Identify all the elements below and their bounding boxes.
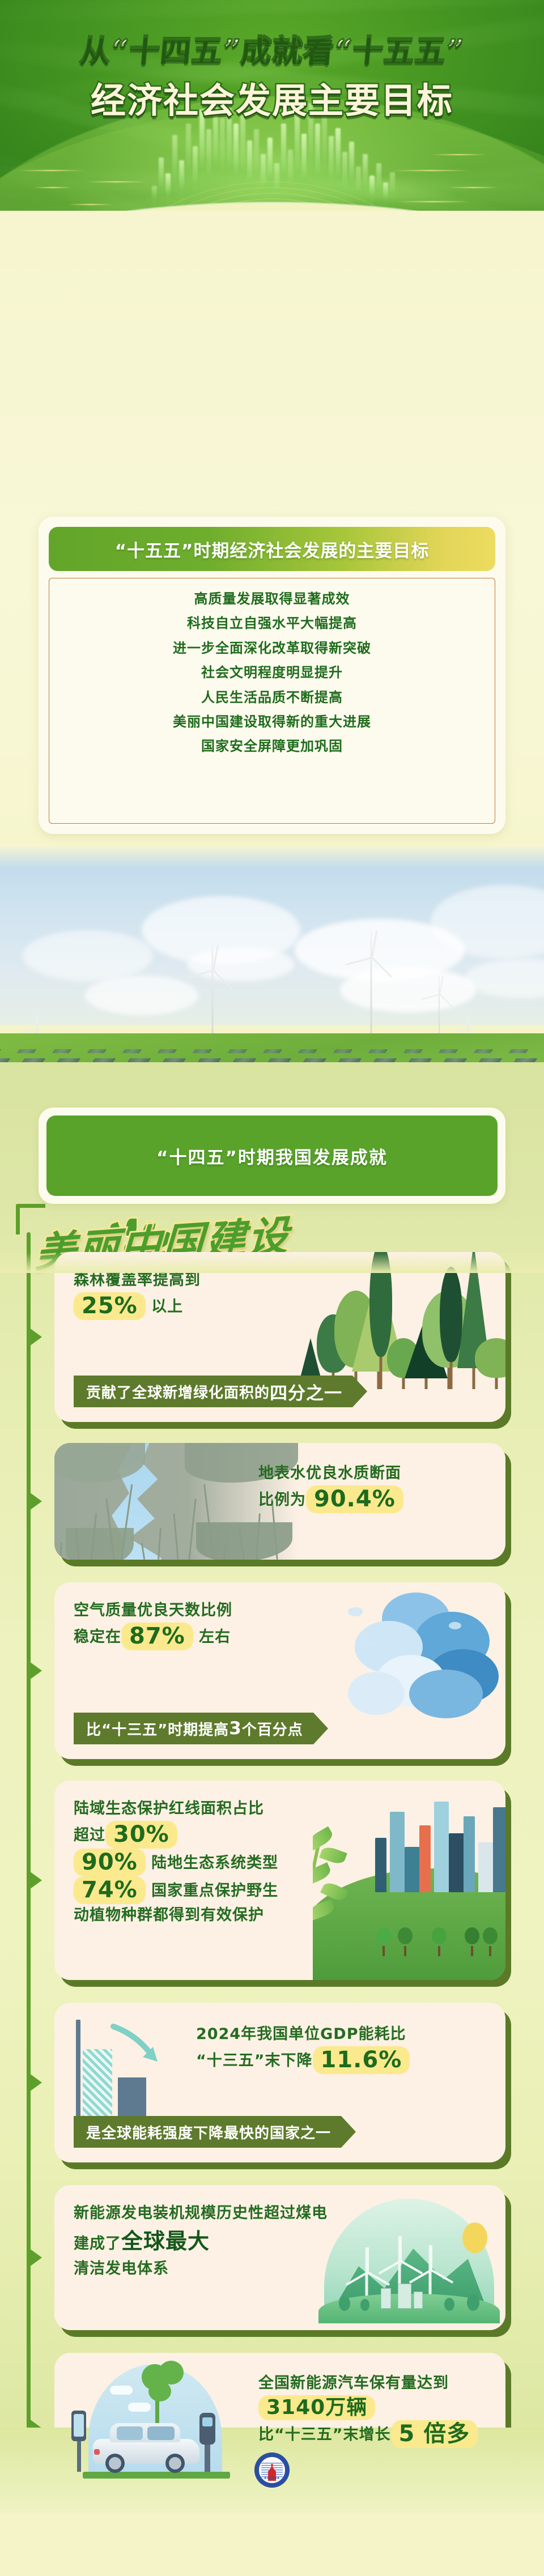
text-segment: 新能源发电装机规模历史性超过煤电	[74, 2204, 328, 2222]
goal-item: 社会文明程度明显提升	[201, 663, 343, 682]
car-icon	[93, 2423, 199, 2472]
text-segment: 全国新能源汽车保有量达到	[258, 2374, 449, 2392]
card-ribbon-banner: 是全球能耗强度下降最快的国家之一	[74, 2116, 341, 2148]
text-segment: 超过	[74, 1826, 105, 1844]
wind-and-solar-scene-illustration	[313, 2193, 500, 2323]
timeline-arrow	[29, 1871, 42, 1889]
highlight-value: 87%	[121, 1623, 193, 1650]
card-text-line: 90% 陆地生态系统类型	[74, 1849, 278, 1876]
card-text-line: 比例为90.4%	[258, 1485, 492, 1513]
highlight-value: 90%	[74, 1849, 146, 1876]
text-segment: 动植物种群都得到有效保护	[74, 1906, 264, 1924]
photo-top-fade	[0, 845, 544, 868]
timeline-arrow	[29, 2073, 42, 2092]
hero-banner: 从“十四五”成就看“十五五” 经济社会发展主要目标	[0, 0, 544, 244]
card-text-line: 2024年我国单位GDP能耗比	[196, 2023, 410, 2046]
achievements-section: “十四五”时期我国发展成就 美丽中国建设 森林覆盖率提高到25% 以上贡献了全球…	[0, 1062, 544, 2513]
down-arrow-icon	[110, 2023, 164, 2068]
highlight-value: 5 倍多	[391, 2420, 478, 2448]
achievements-header-banner: “十四五”时期我国发展成就	[46, 1115, 498, 1196]
highlight-value: 11.6%	[313, 2046, 410, 2074]
text-segment: 空气质量优良天数比例	[74, 1602, 232, 1619]
card-ribbon-banner: 贡献了全球新增绿化面积的四分之一	[74, 1376, 352, 1407]
card-text-line: 地表水优良水质断面	[258, 1462, 492, 1485]
electric-vehicle-illustration	[69, 2361, 245, 2491]
goal-item: 美丽中国建设取得新的重大进展	[173, 713, 371, 731]
achievement-card: 地表水优良水质断面比例为90.4%	[54, 1443, 505, 1560]
text-segment: 陆域生态保护红线面积占比	[74, 1800, 264, 1817]
goals-list: 高质量发展取得显著成效科技自立自强水平大幅提高进一步全面深化改革取得新突破社会文…	[49, 578, 495, 824]
text-segment: 陆地生态系统类型	[146, 1854, 278, 1872]
hero-title-line-1: 从“十四五”成就看“十五五”	[0, 33, 544, 69]
text-segment: “十三五”末下降	[196, 2052, 313, 2070]
text-segment: 左右	[193, 1628, 231, 1646]
goal-item: 国家安全屏障更加巩固	[201, 737, 343, 755]
goal-item: 高质量发展取得显著成效	[194, 590, 350, 608]
text-segment: 稳定在	[74, 1628, 121, 1646]
card-text-line: 3140万辆	[258, 2395, 492, 2420]
text-segment: 清洁发电体系	[74, 2260, 169, 2277]
goal-item: 人民生活品质不断提高	[201, 688, 343, 706]
achievement-card: 森林覆盖率提高到25% 以上贡献了全球新增绿化面积的四分之一	[54, 1252, 505, 1422]
achievements-header-text: “十四五”时期我国发展成就	[156, 1143, 388, 1169]
card-text-block: 空气质量优良天数比例稳定在87% 左右	[74, 1599, 232, 1650]
highlight-value: 3140万辆	[258, 2395, 375, 2420]
ribbon-emphasis: 四分之一	[270, 1379, 342, 1404]
card-text-line: 74% 国家重点保护野生	[74, 1876, 278, 1904]
card-text-line: 全国新能源汽车保有量达到	[258, 2372, 492, 2395]
goals-card-header: “十五五”时期经济社会发展的主要目标	[49, 527, 495, 571]
goal-item: 科技自立自强水平大幅提高	[187, 614, 357, 632]
ribbon-text: 比“十三五”时期提高	[86, 1718, 229, 1739]
text-segment: 地表水优良水质断面	[258, 1464, 401, 1482]
highlight-value: 74%	[74, 1876, 146, 1904]
xinhua-logo-ring: XINHUA	[258, 2456, 286, 2484]
highlight-value: 25%	[74, 1292, 146, 1320]
sun-icon	[462, 2222, 487, 2253]
text-segment: 以上	[146, 1298, 183, 1315]
hero-title-line-2: 经济社会发展主要目标	[0, 82, 544, 120]
xinhua-logo-text: XINHUA	[259, 2477, 285, 2480]
highlight-value: 90.4%	[306, 1485, 403, 1513]
timeline-arrow	[29, 1492, 42, 1510]
achievements-header-card: “十四五”时期我国发展成就	[39, 1108, 505, 1204]
card-text-line: “十三五”末下降11.6%	[196, 2046, 410, 2074]
goals-card: “十五五”时期经济社会发展的主要目标 高质量发展取得显著成效科技自立自强水平大幅…	[39, 517, 505, 834]
card-text-line: 稳定在87% 左右	[74, 1623, 232, 1650]
ribbon-emphasis: 3	[229, 1718, 242, 1739]
cloud-illustration	[314, 1587, 501, 1728]
ribbon-text: 是全球能耗强度下降最快的国家之一	[86, 2122, 331, 2143]
text-segment: 建成了	[74, 2235, 121, 2253]
goals-header-text: “十五五”时期经济社会发展的主要目标	[115, 537, 430, 562]
charging-station-icon	[197, 2413, 216, 2472]
achievement-card: 新能源发电装机规模历史性超过煤电建成了全球最大清洁发电体系	[54, 2185, 505, 2330]
card-text-line: 比“十三五”末增长5 倍多	[258, 2420, 492, 2448]
highlight-value: 30%	[105, 1821, 177, 1849]
text-segment: 森林覆盖率提高到	[74, 1271, 201, 1289]
timeline-arrow	[29, 1328, 42, 1346]
infographic-page: 从“十四五”成就看“十五五” 经济社会发展主要目标 “十五五”时期经济社会发展的…	[0, 0, 544, 2576]
emphasis-text: 全球最大	[121, 2229, 210, 2254]
card-inner: 新能源发电装机规模历史性超过煤电建成了全球最大清洁发电体系	[54, 2185, 505, 2330]
text-segment: 比“十三五”末增长	[258, 2426, 391, 2443]
achievement-card: 2024年我国单位GDP能耗比“十三五”末下降11.6%是全球能耗强度下降最快的…	[54, 2003, 505, 2162]
card-text-line: 建成了全球最大	[74, 2225, 328, 2258]
card-text-line: 超过30%	[74, 1821, 278, 1849]
card-text-block: 陆域生态保护红线面积占比超过30%90% 陆地生态系统类型74% 国家重点保护野…	[74, 1798, 278, 1927]
card-text-block: 森林覆盖率提高到25% 以上	[74, 1269, 201, 1320]
ribbon-text-tail: 个百分点	[242, 1718, 303, 1739]
achievement-card: 空气质量优良天数比例稳定在87% 左右比“十三五”时期提高3个百分点	[54, 1582, 505, 1759]
timeline-arrow	[29, 2249, 42, 2267]
card-text-line: 空气质量优良天数比例	[74, 1599, 232, 1623]
card-text-block: 2024年我国单位GDP能耗比“十三五”末下降11.6%	[196, 2023, 410, 2074]
timeline-arrow	[29, 1662, 42, 1680]
card-text-block: 全国新能源汽车保有量达到3140万辆比“十三五”末增长5 倍多	[258, 2372, 492, 2448]
hero-title-group: 从“十四五”成就看“十五五” 经济社会发展主要目标	[0, 33, 544, 120]
card-text-block: 新能源发电装机规模历史性超过煤电建成了全球最大清洁发电体系	[74, 2202, 328, 2280]
card-text-line: 新能源发电装机规模历史性超过煤电	[74, 2202, 328, 2225]
card-text-line: 清洁发电体系	[74, 2258, 328, 2281]
card-ribbon-banner: 比“十三五”时期提高3个百分点	[74, 1713, 313, 1744]
card-inner: 陆域生态保护红线面积占比超过30%90% 陆地生态系统类型74% 国家重点保护野…	[54, 1781, 505, 1980]
card-text-line: 动植物种群都得到有效保护	[74, 1904, 278, 1927]
text-segment: 2024年我国单位GDP能耗比	[196, 2025, 406, 2043]
xinhua-logo-icon: XINHUA	[254, 2452, 290, 2488]
text-segment: 比例为	[258, 1491, 306, 1509]
timeline-corner-bracket	[16, 1204, 45, 1234]
text-segment: 国家重点保护野生	[146, 1882, 278, 1900]
achievement-card: 陆域生态保护红线面积占比超过30%90% 陆地生态系统类型74% 国家重点保护野…	[54, 1781, 505, 1980]
info-kiosk-icon	[70, 2411, 87, 2472]
ribbon-text: 贡献了全球新增绿化面积的	[86, 1381, 270, 1402]
card-text-line: 陆域生态保护红线面积占比	[74, 1798, 278, 1821]
card-text-line: 25% 以上	[74, 1292, 201, 1320]
city-and-greenery-illustration	[313, 1781, 505, 1980]
photo-bottom-fade	[0, 1253, 544, 1273]
goal-item: 进一步全面深化改革取得新突破	[173, 639, 371, 657]
card-inner: 地表水优良水质断面比例为90.4%	[54, 1443, 505, 1560]
card-text-block: 地表水优良水质断面比例为90.4%	[258, 1462, 492, 1513]
